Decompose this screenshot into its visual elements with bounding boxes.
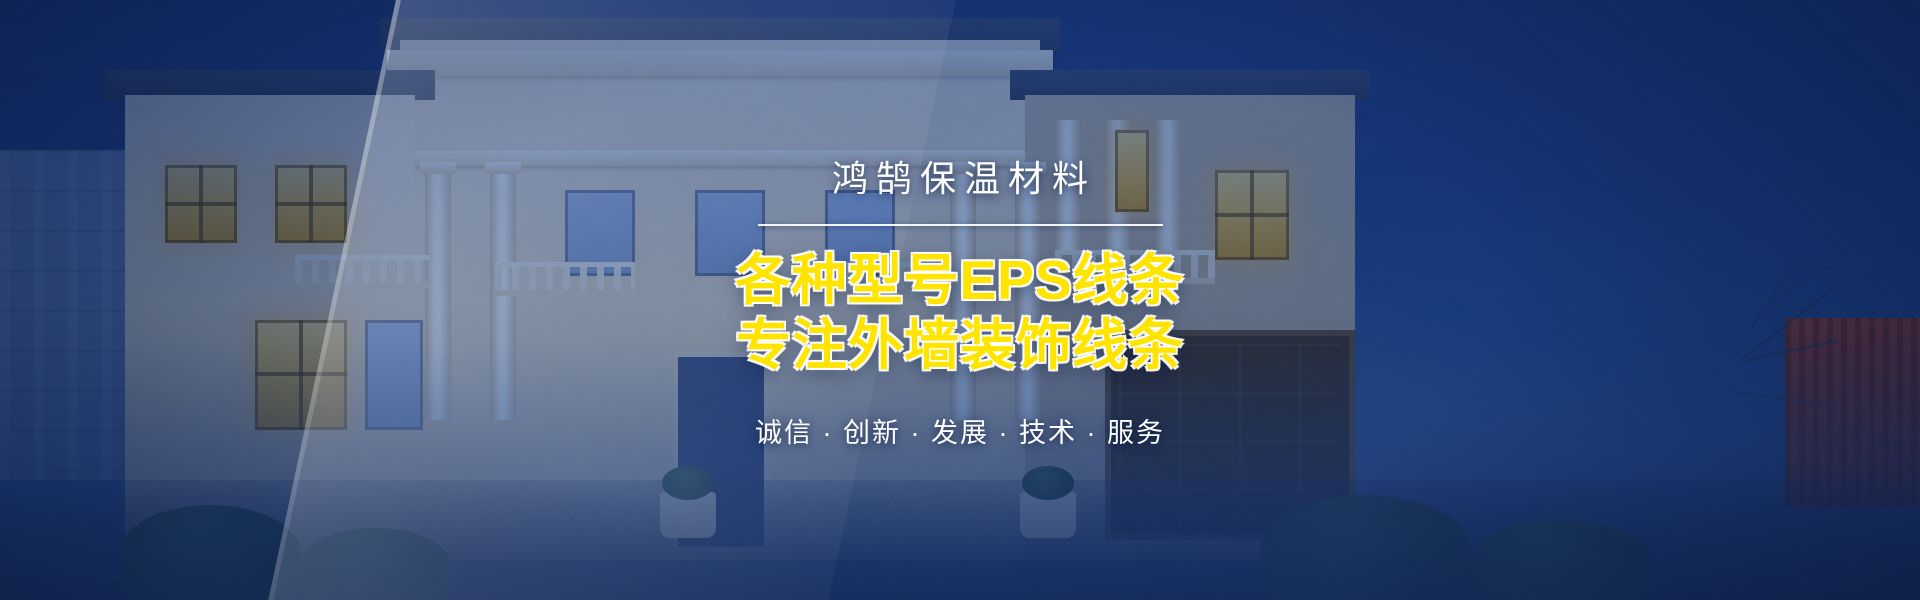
promo-banner: 鸿鹄保温材料 各种型号EPS线条 专注外墙装饰线条 诚信 · 创新 · 发展 ·… [0,0,1920,600]
banner-content: 鸿鹄保温材料 各种型号EPS线条 专注外墙装饰线条 诚信 · 创新 · 发展 ·… [0,0,1920,600]
title-divider [758,224,1163,226]
headline-line-1: 各种型号EPS线条 [735,248,1184,313]
headline-line-2: 专注外墙装饰线条 [736,313,1184,378]
company-name: 鸿鹄保温材料 [824,150,1096,202]
tagline: 诚信 · 创新 · 发展 · 技术 · 服务 [755,411,1165,450]
